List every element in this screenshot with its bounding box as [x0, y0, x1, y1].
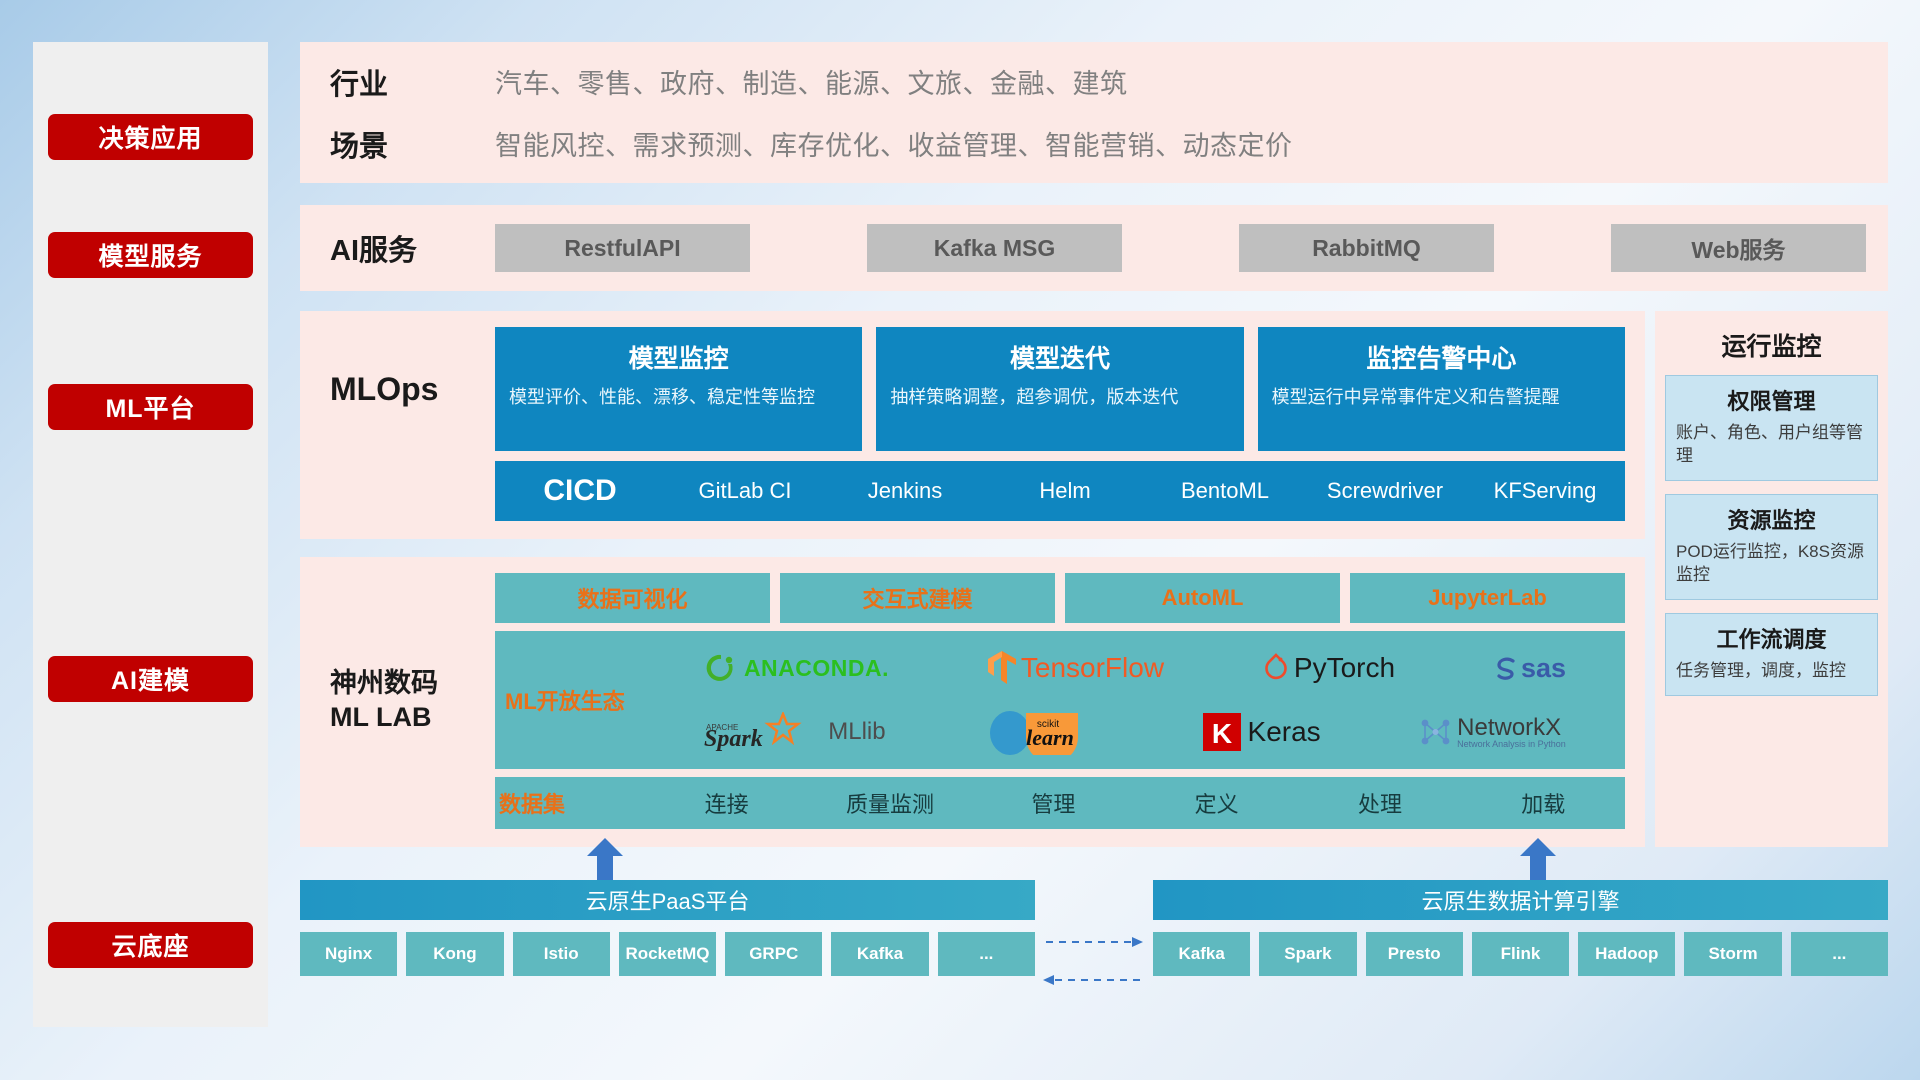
cicd-item-kfserving[interactable]: KFServing — [1465, 478, 1625, 503]
keras-logo: K Keras — [1203, 713, 1321, 751]
paas-chip-grpc[interactable]: GRPC — [725, 932, 822, 976]
cicd-item-helm[interactable]: Helm — [985, 478, 1145, 503]
networkx-label: NetworkX — [1457, 716, 1566, 740]
ml-lab-label-line1: 神州数码 — [330, 667, 438, 701]
cicd-item-jenkins[interactable]: Jenkins — [825, 478, 985, 503]
chip-label: RabbitMQ — [1312, 235, 1421, 262]
ai-service-band: AI服务 RestfulAPI Kafka MSG RabbitMQ Web服务 — [300, 205, 1888, 291]
chip-label: Web服务 — [1691, 231, 1785, 265]
svg-text:K: K — [1211, 718, 1231, 749]
architecture-diagram: 决策应用 模型服务 ML平台 AI建模 云底座 行业 汽车、零售、政府、制造、能… — [0, 0, 1920, 1080]
mlops-card-alert-center[interactable]: 监控告警中心 模型运行中异常事件定义和告警提醒 — [1258, 327, 1625, 451]
layer-rail: 决策应用 模型服务 ML平台 AI建模 云底座 — [33, 42, 268, 1027]
arrow-up-paas — [585, 838, 625, 880]
paas-platform-group: 云原生PaaS平台 Nginx Kong Istio RocketMQ GRPC… — [300, 880, 1035, 976]
scikit-learn-logo: scikit learn — [984, 709, 1104, 755]
svg-text:learn: learn — [1026, 725, 1074, 750]
card-desc: POD运行监控，K8S资源监控 — [1676, 541, 1867, 587]
ml-ecosystem-box: ML开放生态 — [495, 631, 1625, 769]
card-title: 模型监控 — [509, 339, 848, 375]
paas-platform-header: 云原生PaaS平台 — [300, 880, 1035, 920]
mllib-label: MLlib — [828, 718, 885, 746]
monitor-card-permission[interactable]: 权限管理 账户、角色、用户组等管理 — [1665, 375, 1878, 481]
compute-chip-presto[interactable]: Presto — [1366, 932, 1463, 976]
compute-chip-spark[interactable]: Spark — [1259, 932, 1356, 976]
ai-service-chip-web[interactable]: Web服务 — [1611, 224, 1866, 272]
svg-text:Spark: Spark — [704, 726, 763, 752]
scenario-value: 智能风控、需求预测、库存优化、收益管理、智能营销、动态定价 — [495, 124, 1293, 163]
ml-lab-label: 神州数码 ML LAB — [330, 573, 495, 829]
networkx-logo: NetworkX Network Analysis in Python — [1419, 715, 1566, 749]
tensorflow-icon — [987, 650, 1017, 686]
rail-label: 决策应用 — [98, 119, 202, 155]
rail-item-decision-apps[interactable]: 决策应用 — [48, 114, 253, 160]
dataset-label: 数据集 — [495, 787, 645, 819]
data-compute-engine-group: 云原生数据计算引擎 Kafka Spark Presto Flink Hadoo… — [1153, 880, 1888, 976]
card-desc: 模型运行中异常事件定义和告警提醒 — [1272, 385, 1611, 409]
compute-chip-hadoop[interactable]: Hadoop — [1578, 932, 1675, 976]
dataset-item-definition[interactable]: 定义 — [1135, 787, 1298, 819]
spark-mllib-logo: APACHE Spark MLlib — [704, 712, 885, 752]
chip-label: Kafka MSG — [934, 235, 1055, 262]
card-desc: 抽样策略调整，超参调优，版本迭代 — [890, 385, 1229, 409]
dataset-item-quality-monitoring[interactable]: 质量监测 — [808, 787, 971, 819]
paas-chip-more[interactable]: ... — [938, 932, 1035, 976]
pytorch-label: PyTorch — [1294, 652, 1395, 684]
mlops-label: MLOps — [330, 327, 495, 451]
mlops-card-model-monitoring[interactable]: 模型监控 模型评价、性能、漂移、稳定性等监控 — [495, 327, 862, 451]
decision-apps-band: 行业 汽车、零售、政府、制造、能源、文旅、金融、建筑 场景 智能风控、需求预测、… — [300, 42, 1888, 183]
scenario-row: 场景 智能风控、需求预测、库存优化、收益管理、智能营销、动态定价 — [330, 123, 1888, 165]
cicd-title: CICD — [495, 474, 665, 508]
rail-label: 云底座 — [111, 927, 189, 963]
cicd-strip: CICD GitLab CI Jenkins Helm BentoML Scre… — [495, 461, 1625, 521]
rail-label: 模型服务 — [98, 237, 202, 273]
card-title: 监控告警中心 — [1272, 339, 1611, 375]
monitor-card-resource[interactable]: 资源监控 POD运行监控，K8S资源监控 — [1665, 494, 1878, 600]
ml-lab-label-line2: ML LAB — [330, 701, 438, 735]
industry-value: 汽车、零售、政府、制造、能源、文旅、金融、建筑 — [495, 62, 1128, 101]
compute-chip-kafka[interactable]: Kafka — [1153, 932, 1250, 976]
main-column: 行业 汽车、零售、政府、制造、能源、文旅、金融、建筑 场景 智能风控、需求预测、… — [300, 42, 1888, 847]
card-title: 权限管理 — [1676, 384, 1867, 416]
sas-logo: sas — [1493, 653, 1566, 684]
rail-item-ai-modeling[interactable]: AI建模 — [48, 656, 253, 702]
rail-label: AI建模 — [111, 661, 190, 697]
runtime-monitoring-column: 运行监控 权限管理 账户、角色、用户组等管理 资源监控 POD运行监控，K8S资… — [1655, 311, 1888, 847]
runtime-monitoring-title: 运行监控 — [1665, 327, 1878, 363]
sas-icon — [1493, 655, 1519, 681]
dataset-item-loading[interactable]: 加载 — [1462, 787, 1625, 819]
compute-chip-storm[interactable]: Storm — [1684, 932, 1781, 976]
anaconda-logo: ANACONDA. — [704, 651, 889, 685]
card-desc: 账户、角色、用户组等管理 — [1676, 422, 1867, 468]
tensorflow-label: TensorFlow — [1021, 652, 1164, 684]
networkx-sublabel: Network Analysis in Python — [1457, 740, 1566, 749]
chip-label: RestfulAPI — [564, 235, 680, 262]
rail-item-model-service[interactable]: 模型服务 — [48, 232, 253, 278]
paas-chip-istio[interactable]: Istio — [513, 932, 610, 976]
dataset-row: 数据集 连接 质量监测 管理 定义 处理 加载 — [495, 777, 1625, 829]
anaconda-label: ANACONDA. — [744, 655, 889, 682]
platform-section: MLOps 模型监控 模型评价、性能、漂移、稳定性等监控 模型迭代 抽样策略调整… — [300, 311, 1888, 847]
card-title: 资源监控 — [1676, 503, 1867, 535]
ai-service-chip-rabbitmq[interactable]: RabbitMQ — [1239, 224, 1494, 272]
tool-chip-automl[interactable]: AutoML — [1065, 573, 1340, 623]
paas-chip-rocketmq[interactable]: RocketMQ — [619, 932, 716, 976]
monitor-card-workflow[interactable]: 工作流调度 任务管理，调度，监控 — [1665, 613, 1878, 696]
paas-chip-kong[interactable]: Kong — [406, 932, 503, 976]
keras-icon: K — [1203, 713, 1241, 751]
dataset-item-management[interactable]: 管理 — [972, 787, 1135, 819]
card-desc: 任务管理，调度，监控 — [1676, 660, 1867, 683]
paas-chip-kafka[interactable]: Kafka — [831, 932, 928, 976]
pytorch-logo: PyTorch — [1262, 652, 1395, 684]
tool-chip-jupyterlab[interactable]: JupyterLab — [1350, 573, 1625, 623]
cicd-item-screwdriver[interactable]: Screwdriver — [1305, 478, 1465, 503]
ml-lab-band: 神州数码 ML LAB 数据可视化 交互式建模 AutoML JupyterLa… — [300, 557, 1645, 847]
card-desc: 模型评价、性能、漂移、稳定性等监控 — [509, 385, 848, 409]
sas-label: sas — [1521, 653, 1566, 684]
compute-chip-flink[interactable]: Flink — [1472, 932, 1569, 976]
ai-service-label: AI服务 — [330, 227, 495, 269]
industry-row: 行业 汽车、零售、政府、制造、能源、文旅、金融、建筑 — [330, 61, 1888, 103]
card-title: 工作流调度 — [1676, 622, 1867, 654]
card-title: 模型迭代 — [890, 339, 1229, 375]
cicd-item-bentoml[interactable]: BentoML — [1145, 478, 1305, 503]
tool-chip-data-visualization[interactable]: 数据可视化 — [495, 573, 770, 623]
pytorch-icon — [1262, 652, 1290, 684]
cicd-item-gitlab-ci[interactable]: GitLab CI — [665, 478, 825, 503]
tensorflow-logo: TensorFlow — [987, 650, 1164, 686]
scikit-learn-icon: scikit learn — [984, 709, 1104, 755]
paas-chip-nginx[interactable]: Nginx — [300, 932, 397, 976]
data-compute-engine-header: 云原生数据计算引擎 — [1153, 880, 1888, 920]
rail-label: ML平台 — [105, 389, 195, 425]
anaconda-icon — [704, 651, 738, 685]
tool-chip-interactive-modeling[interactable]: 交互式建模 — [780, 573, 1055, 623]
ai-service-chip-restfulapi[interactable]: RestfulAPI — [495, 224, 750, 272]
spark-icon: APACHE Spark — [704, 712, 822, 752]
dataset-item-processing[interactable]: 处理 — [1298, 787, 1461, 819]
arrow-up-compute — [1518, 838, 1558, 880]
ml-ecosystem-label: ML开放生态 — [505, 684, 655, 716]
industry-label: 行业 — [330, 61, 495, 103]
cloud-base-section: 云原生PaaS平台 Nginx Kong Istio RocketMQ GRPC… — [300, 880, 1888, 976]
keras-label: Keras — [1248, 716, 1321, 748]
networkx-icon — [1419, 715, 1453, 749]
rail-item-cloud-base[interactable]: 云底座 — [48, 922, 253, 968]
dataset-item-connect[interactable]: 连接 — [645, 787, 808, 819]
ai-service-chip-kafka-msg[interactable]: Kafka MSG — [867, 224, 1122, 272]
rail-item-ml-platform[interactable]: ML平台 — [48, 384, 253, 430]
compute-chip-more[interactable]: ... — [1791, 932, 1888, 976]
mlops-band: MLOps 模型监控 模型评价、性能、漂移、稳定性等监控 模型迭代 抽样策略调整… — [300, 311, 1645, 539]
mlops-card-model-iteration[interactable]: 模型迭代 抽样策略调整，超参调优，版本迭代 — [876, 327, 1243, 451]
scenario-label: 场景 — [330, 123, 495, 165]
